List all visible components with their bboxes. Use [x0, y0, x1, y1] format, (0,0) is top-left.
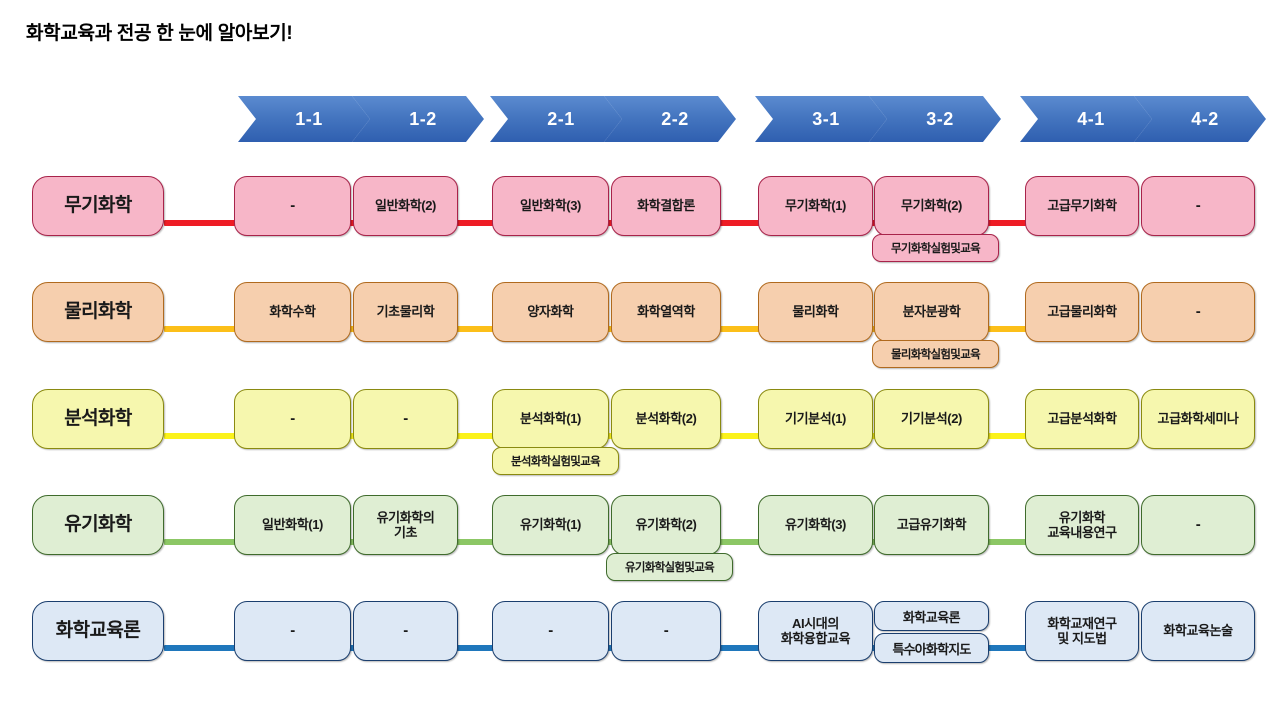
connector-line: [719, 326, 761, 332]
connector-line: [456, 326, 494, 332]
connector-line: [456, 539, 494, 545]
connector-line: [456, 220, 494, 226]
course-box[interactable]: 양자화학: [492, 282, 609, 342]
course-box-empty[interactable]: -: [1141, 282, 1255, 342]
semester-chevron-3-1[interactable]: 3-1: [755, 96, 887, 142]
course-box[interactable]: 화학결합론: [611, 176, 721, 236]
course-box[interactable]: 물리화학: [758, 282, 873, 342]
course-box[interactable]: 무기화학(2): [874, 176, 989, 236]
track-label-organic[interactable]: 유기화학: [32, 495, 164, 555]
course-box[interactable]: 고급화학세미나: [1141, 389, 1255, 449]
semester-chevron-3-2[interactable]: 3-2: [869, 96, 1001, 142]
connector-line: [719, 433, 761, 439]
course-box[interactable]: 화학수학: [234, 282, 351, 342]
course-box[interactable]: 일반화학(1): [234, 495, 351, 555]
connector-line: [719, 645, 761, 651]
connector-line: [987, 220, 1027, 226]
course-box[interactable]: 고급물리화학: [1025, 282, 1139, 342]
course-box-empty[interactable]: -: [611, 601, 721, 661]
course-box-lab[interactable]: 무기화학실험및교육: [872, 234, 999, 262]
course-box[interactable]: 유기화학(2): [611, 495, 721, 555]
course-box-empty[interactable]: -: [353, 389, 458, 449]
track-row-education: 화학교육론----AI시대의 화학융합교육화학교육론특수아화학지도화학교재연구 …: [0, 601, 1280, 701]
course-box-empty[interactable]: -: [1141, 176, 1255, 236]
connector-line: [987, 326, 1027, 332]
semester-chevron-2-1[interactable]: 2-1: [490, 96, 622, 142]
course-box[interactable]: 유기화학 교육내용연구: [1025, 495, 1139, 555]
track-label-inorganic[interactable]: 무기화학: [32, 176, 164, 236]
course-box[interactable]: 분석화학(1): [492, 389, 609, 449]
course-box-empty[interactable]: -: [353, 601, 458, 661]
connector-line: [456, 645, 494, 651]
course-box[interactable]: 고급분석화학: [1025, 389, 1139, 449]
course-box[interactable]: 유기화학(1): [492, 495, 609, 555]
semester-chevron-4-1[interactable]: 4-1: [1020, 96, 1152, 142]
course-box[interactable]: 기기분석(1): [758, 389, 873, 449]
course-box[interactable]: 유기화학의 기초: [353, 495, 458, 555]
course-box-empty[interactable]: -: [234, 176, 351, 236]
track-row-analytical: 분석화학--분석화학(1)분석화학실험및교육분석화학(2)기기분석(1)기기분석…: [0, 389, 1280, 489]
connector-line: [164, 220, 236, 226]
course-box-empty[interactable]: -: [492, 601, 609, 661]
course-box[interactable]: 일반화학(2): [353, 176, 458, 236]
course-box[interactable]: 고급무기화학: [1025, 176, 1139, 236]
connector-line: [987, 645, 1027, 651]
track-label-education[interactable]: 화학교육론: [32, 601, 164, 661]
course-box-empty[interactable]: -: [234, 389, 351, 449]
course-box[interactable]: 유기화학(3): [758, 495, 873, 555]
course-box[interactable]: 기초물리학: [353, 282, 458, 342]
course-box-lab[interactable]: 분석화학실험및교육: [492, 447, 619, 475]
semester-chevron-4-2[interactable]: 4-2: [1134, 96, 1266, 142]
track-label-physical[interactable]: 물리화학: [32, 282, 164, 342]
course-box[interactable]: 기기분석(2): [874, 389, 989, 449]
track-label-analytical[interactable]: 분석화학: [32, 389, 164, 449]
page-title: 화학교육과 전공 한 눈에 알아보기!: [26, 18, 292, 45]
course-box[interactable]: 분자분광학: [874, 282, 989, 342]
course-box[interactable]: AI시대의 화학융합교육: [758, 601, 873, 661]
connector-line: [164, 645, 236, 651]
course-box[interactable]: 고급유기화학: [874, 495, 989, 555]
connector-line: [719, 539, 761, 545]
course-box-empty[interactable]: -: [1141, 495, 1255, 555]
course-box[interactable]: 화학교재연구 및 지도법: [1025, 601, 1139, 661]
connector-line: [987, 433, 1027, 439]
course-box-lab[interactable]: 물리화학실험및교육: [872, 340, 999, 368]
course-box[interactable]: 일반화학(3): [492, 176, 609, 236]
connector-line: [164, 539, 236, 545]
connector-line: [719, 220, 761, 226]
course-box-secondary[interactable]: 특수아화학지도: [874, 633, 989, 663]
track-row-inorganic: 무기화학-일반화학(2)일반화학(3)화학결합론무기화학(1)무기화학(2)무기…: [0, 176, 1280, 276]
connector-line: [164, 326, 236, 332]
course-box-empty[interactable]: -: [234, 601, 351, 661]
connector-line: [164, 433, 236, 439]
track-row-physical: 물리화학화학수학기초물리학양자화학화학열역학물리화학분자분광학물리화학실험및교육…: [0, 282, 1280, 382]
semester-chevron-band: 1-11-22-12-23-13-24-14-2: [0, 96, 1280, 142]
course-box[interactable]: 무기화학(1): [758, 176, 873, 236]
course-box[interactable]: 화학열역학: [611, 282, 721, 342]
course-box-lab[interactable]: 유기화학실험및교육: [606, 553, 733, 581]
course-box[interactable]: 화학교육논술: [1141, 601, 1255, 661]
track-row-organic: 유기화학일반화학(1)유기화학의 기초유기화학(1)유기화학(2)유기화학실험및…: [0, 495, 1280, 595]
semester-chevron-2-2[interactable]: 2-2: [604, 96, 736, 142]
connector-line: [987, 539, 1027, 545]
semester-chevron-1-1[interactable]: 1-1: [238, 96, 370, 142]
connector-line: [456, 433, 494, 439]
course-box[interactable]: 분석화학(2): [611, 389, 721, 449]
course-box[interactable]: 화학교육론: [874, 601, 989, 631]
semester-chevron-1-2[interactable]: 1-2: [352, 96, 484, 142]
